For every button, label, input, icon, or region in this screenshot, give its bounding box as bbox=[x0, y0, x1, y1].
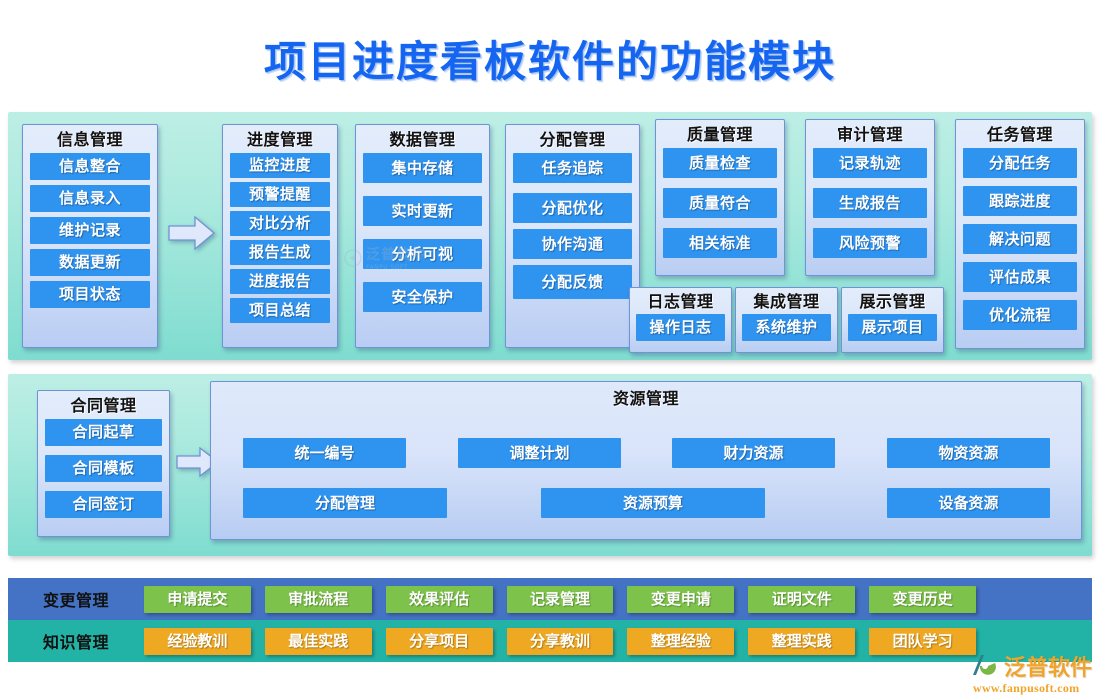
chip-item[interactable]: 合同模板 bbox=[45, 455, 162, 482]
chip-item[interactable]: 评估成果 bbox=[963, 262, 1077, 292]
logo-text: 泛普软件 bbox=[1004, 650, 1092, 682]
chip-item[interactable]: 分配优化 bbox=[513, 193, 632, 223]
band-items: 申请提交 审批流程 效果评估 记录管理 变更申请 证明文件 变更历史 bbox=[144, 586, 1092, 613]
chip-item[interactable]: 预警提醒 bbox=[230, 182, 330, 207]
module-items: 记录轨迹 生成报告 风险预警 bbox=[806, 148, 934, 265]
chip-item[interactable]: 跟踪进度 bbox=[963, 186, 1077, 216]
band-chip[interactable]: 整理经验 bbox=[627, 628, 734, 655]
band-chip[interactable]: 审批流程 bbox=[265, 586, 372, 613]
module-items: 质量检查 质量符合 相关标准 bbox=[656, 148, 784, 265]
module-title: 质量管理 bbox=[656, 120, 784, 148]
module-card-information[interactable]: 信息管理 信息整合 信息录入 维护记录 数据更新 项目状态 bbox=[22, 124, 158, 348]
arrow-right-icon bbox=[168, 216, 216, 250]
band-chip[interactable]: 变更历史 bbox=[869, 586, 976, 613]
chip-item[interactable]: 报告生成 bbox=[230, 240, 330, 265]
module-title: 展示管理 bbox=[842, 288, 943, 314]
resource-chip[interactable]: 财力资源 bbox=[672, 438, 835, 468]
chip-item[interactable]: 合同签订 bbox=[45, 491, 162, 518]
module-card-allocation[interactable]: 分配管理 任务追踪 分配优化 协作沟通 分配反馈 bbox=[505, 124, 640, 348]
resource-chip[interactable]: 资源预算 bbox=[541, 488, 765, 518]
chip-item[interactable]: 质量检查 bbox=[663, 148, 777, 178]
chip-item[interactable]: 解决问题 bbox=[963, 224, 1077, 254]
chip-item[interactable]: 协作沟通 bbox=[513, 229, 632, 259]
module-items: 监控进度 预警提醒 对比分析 报告生成 进度报告 项目总结 bbox=[223, 153, 337, 330]
resource-chip[interactable]: 分配管理 bbox=[243, 488, 447, 518]
chip-item[interactable]: 生成报告 bbox=[813, 188, 927, 218]
resource-chip[interactable]: 设备资源 bbox=[887, 488, 1050, 518]
chip-item[interactable]: 系统维护 bbox=[742, 314, 831, 341]
chip-item[interactable]: 操作日志 bbox=[636, 314, 725, 341]
band-chip[interactable]: 团队学习 bbox=[869, 628, 976, 655]
module-items: 分配任务 跟踪进度 解决问题 评估成果 优化流程 bbox=[956, 148, 1084, 337]
chip-item[interactable]: 质量符合 bbox=[663, 188, 777, 218]
band-knowledge-management: 知识管理 经验教训 最佳实践 分享项目 分享教训 整理经验 整理实践 团队学习 bbox=[8, 620, 1092, 662]
resource-chip[interactable]: 统一编号 bbox=[243, 438, 406, 468]
module-card-contract[interactable]: 合同管理 合同起草 合同模板 合同签订 bbox=[37, 390, 170, 537]
band-change-management: 变更管理 申请提交 审批流程 效果评估 记录管理 变更申请 证明文件 变更历史 bbox=[8, 578, 1092, 620]
module-title: 集成管理 bbox=[736, 288, 837, 314]
chip-item[interactable]: 风险预警 bbox=[813, 228, 927, 258]
module-items: 系统维护 bbox=[736, 314, 837, 346]
module-card-log[interactable]: 日志管理 操作日志 bbox=[629, 287, 732, 353]
band-chip[interactable]: 变更申请 bbox=[627, 586, 734, 613]
band-chip[interactable]: 经验教训 bbox=[144, 628, 251, 655]
module-card-data[interactable]: 数据管理 集中存储 实时更新 分析可视 安全保护 bbox=[355, 124, 490, 348]
resource-grid: 统一编号 调整计划 财力资源 物资资源 分配管理 资源预算 设备资源 bbox=[211, 412, 1081, 530]
module-title: 进度管理 bbox=[223, 125, 337, 153]
chip-item[interactable]: 数据更新 bbox=[30, 249, 150, 276]
module-items: 展示项目 bbox=[842, 314, 943, 346]
logo-url: www.fanpusoft.com bbox=[971, 681, 1092, 696]
chip-item[interactable]: 信息录入 bbox=[30, 185, 150, 212]
page-title: 项目进度看板软件的功能模块 bbox=[0, 28, 1100, 89]
chip-item[interactable]: 项目状态 bbox=[30, 281, 150, 308]
resource-chip[interactable]: 调整计划 bbox=[458, 438, 621, 468]
chip-item[interactable]: 维护记录 bbox=[30, 217, 150, 244]
chip-item[interactable]: 实时更新 bbox=[363, 196, 482, 226]
module-card-quality[interactable]: 质量管理 质量检查 质量符合 相关标准 bbox=[655, 119, 785, 276]
chip-item[interactable]: 集中存储 bbox=[363, 153, 482, 183]
band-label: 知识管理 bbox=[8, 629, 144, 653]
module-title: 审计管理 bbox=[806, 120, 934, 148]
module-card-integration[interactable]: 集成管理 系统维护 bbox=[735, 287, 838, 353]
chip-item[interactable]: 优化流程 bbox=[963, 300, 1077, 330]
module-title: 信息管理 bbox=[23, 125, 157, 153]
band-chip[interactable]: 分享教训 bbox=[507, 628, 614, 655]
chip-item[interactable]: 展示项目 bbox=[848, 314, 937, 341]
chip-item[interactable]: 合同起草 bbox=[45, 419, 162, 446]
chip-item[interactable]: 记录轨迹 bbox=[813, 148, 927, 178]
logo-mark-icon bbox=[971, 653, 1001, 679]
band-chip[interactable]: 记录管理 bbox=[507, 586, 614, 613]
band-chip[interactable]: 最佳实践 bbox=[265, 628, 372, 655]
chip-item[interactable]: 信息整合 bbox=[30, 153, 150, 180]
infographic-canvas: 项目进度看板软件的功能模块 信息管理 信息整合 信息录入 维护记录 数据更新 项… bbox=[0, 0, 1100, 700]
chip-item[interactable]: 进度报告 bbox=[230, 269, 330, 294]
module-items: 合同起草 合同模板 合同签订 bbox=[38, 419, 169, 525]
chip-item[interactable]: 监控进度 bbox=[230, 153, 330, 178]
chip-item[interactable]: 分配任务 bbox=[963, 148, 1077, 178]
module-title: 合同管理 bbox=[38, 391, 169, 419]
module-items: 任务追踪 分配优化 协作沟通 分配反馈 bbox=[506, 153, 639, 306]
module-title: 日志管理 bbox=[630, 288, 731, 314]
chip-item[interactable]: 分析可视 bbox=[363, 239, 482, 269]
chip-item[interactable]: 分配反馈 bbox=[513, 265, 632, 299]
module-card-audit[interactable]: 审计管理 记录轨迹 生成报告 风险预警 bbox=[805, 119, 935, 276]
module-title: 资源管理 bbox=[211, 382, 1081, 412]
module-title: 任务管理 bbox=[956, 120, 1084, 148]
module-title: 数据管理 bbox=[356, 125, 489, 153]
band-label: 变更管理 bbox=[8, 587, 144, 611]
module-card-schedule[interactable]: 进度管理 监控进度 预警提醒 对比分析 报告生成 进度报告 项目总结 bbox=[222, 124, 338, 348]
module-items: 信息整合 信息录入 维护记录 数据更新 项目状态 bbox=[23, 153, 157, 315]
module-card-task[interactable]: 任务管理 分配任务 跟踪进度 解决问题 评估成果 优化流程 bbox=[955, 119, 1085, 349]
band-chip[interactable]: 效果评估 bbox=[386, 586, 493, 613]
brand-logo: 泛普软件 www.fanpusoft.com bbox=[971, 650, 1092, 696]
chip-item[interactable]: 安全保护 bbox=[363, 282, 482, 312]
chip-item[interactable]: 相关标准 bbox=[663, 228, 777, 258]
band-chip[interactable]: 分享项目 bbox=[386, 628, 493, 655]
module-card-display[interactable]: 展示管理 展示项目 bbox=[841, 287, 944, 353]
band-chip[interactable]: 整理实践 bbox=[748, 628, 855, 655]
band-items: 经验教训 最佳实践 分享项目 分享教训 整理经验 整理实践 团队学习 bbox=[144, 628, 1092, 655]
module-items: 操作日志 bbox=[630, 314, 731, 346]
chip-item[interactable]: 对比分析 bbox=[230, 211, 330, 236]
module-items: 集中存储 实时更新 分析可视 安全保护 bbox=[356, 153, 489, 319]
module-card-resource[interactable]: 资源管理 统一编号 调整计划 财力资源 物资资源 分配管理 资源预算 设备资源 bbox=[210, 381, 1082, 540]
chip-item[interactable]: 任务追踪 bbox=[513, 153, 632, 183]
band-chip[interactable]: 申请提交 bbox=[144, 586, 251, 613]
chip-item[interactable]: 项目总结 bbox=[230, 298, 330, 323]
module-title: 分配管理 bbox=[506, 125, 639, 153]
resource-chip[interactable]: 物资资源 bbox=[887, 438, 1050, 468]
band-chip[interactable]: 证明文件 bbox=[748, 586, 855, 613]
